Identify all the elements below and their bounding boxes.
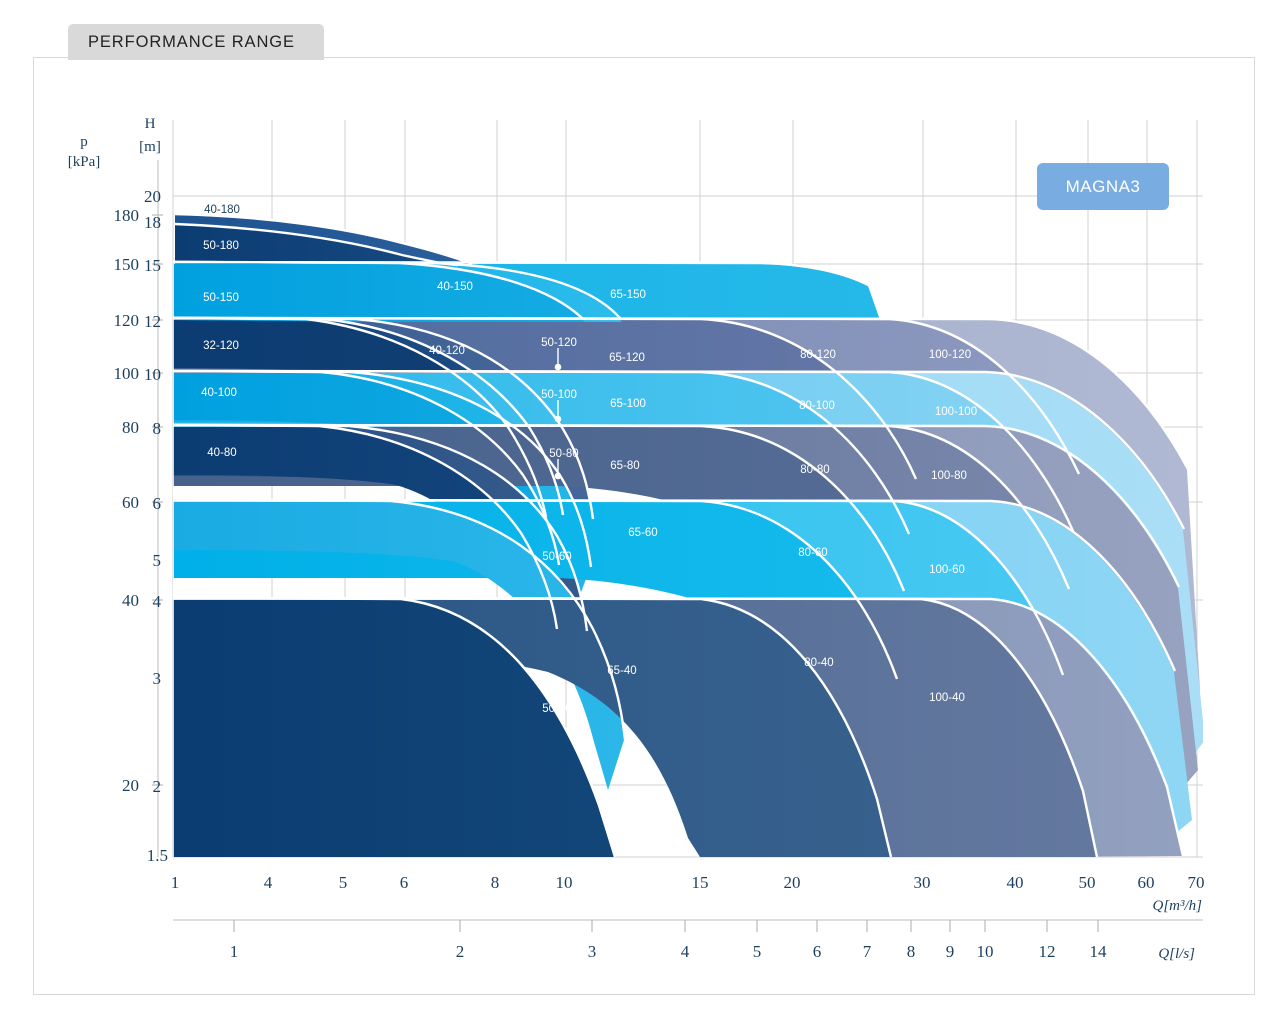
ytick-p-120: 120 [114, 311, 140, 330]
axis-bottom-secondary: 1 2 3 4 5 6 7 8 9 10 12 14 Q[l/s] [230, 942, 1195, 962]
curve-label-65-100: 65-100 [610, 398, 646, 410]
xtick-q-5: 5 [339, 873, 348, 892]
ytick-p-100: 100 [114, 364, 140, 383]
ytick-h-1.5: 1.5 [147, 846, 168, 865]
curve-label-80-80: 80-80 [800, 464, 829, 476]
curve-label-50-120: 50-120 [541, 337, 577, 349]
band-row-40 [173, 600, 1182, 857]
ytick-h-10: 10 [144, 365, 161, 384]
xtick-ls-10: 10 [977, 942, 994, 961]
xtick-ls-8: 8 [907, 942, 916, 961]
ytick-h-2: 2 [153, 777, 162, 796]
xtick-ls-7: 7 [863, 942, 872, 961]
axis-left-primary: p [kPa] 180 150 120 100 80 60 40 20 [68, 134, 139, 795]
curve-label-40-100: 40-100 [201, 387, 237, 399]
ytick-p-60: 60 [122, 493, 139, 512]
curve-label-50-150: 50-150 [203, 292, 239, 304]
axis-left-secondary: H [m] 20 18 15 12 10 8 6 5 4 3 2 1.5 [139, 116, 168, 865]
ytick-h-3: 3 [153, 669, 162, 688]
curve-label-80-100: 80-100 [799, 400, 835, 412]
ytick-h-5: 5 [153, 551, 162, 570]
curve-label-80-120: 80-120 [800, 349, 836, 361]
xtick-q-60: 60 [1138, 873, 1155, 892]
axis-q-ls-unit: Q[l/s] [1158, 946, 1195, 962]
axis-h-unit: [m] [139, 139, 161, 155]
xtick-q-1: 1 [171, 873, 180, 892]
curve-label-40-80: 40-80 [207, 447, 236, 459]
performance-bands [173, 215, 1205, 857]
ytick-p-80: 80 [122, 418, 139, 437]
curve-label-100-60: 100-60 [929, 564, 965, 576]
page-title-tab: PERFORMANCE RANGE [68, 24, 324, 60]
curve-label-50-80: 50-80 [549, 448, 578, 460]
curve-label-65-40: 65-40 [607, 665, 636, 677]
xtick-ls-6: 6 [813, 942, 822, 961]
xtick-q-40: 40 [1007, 873, 1024, 892]
ytick-h-18: 18 [144, 213, 161, 232]
curve-label-50-100: 50-100 [541, 389, 577, 401]
ytick-p-20: 20 [122, 776, 139, 795]
curve-label-65-60: 65-60 [628, 527, 657, 539]
xtick-q-8: 8 [491, 873, 500, 892]
curve-label-100-100: 100-100 [935, 406, 977, 418]
magna3-badge: MAGNA3 [1037, 163, 1169, 210]
curve-label-50-180: 50-180 [203, 240, 239, 252]
xtick-ls-12: 12 [1039, 942, 1056, 961]
ytick-h-6: 6 [153, 494, 162, 513]
ytick-h-12: 12 [144, 312, 161, 331]
curve-label-32-120: 32-120 [203, 340, 239, 352]
axis-h-name: H [145, 116, 156, 132]
curve-label-40-180: 40-180 [204, 204, 240, 216]
performance-range-chart-page: PERFORMANCE RANGE [0, 0, 1280, 1024]
xtick-ls-1: 1 [230, 942, 239, 961]
curve-label-100-40: 100-40 [929, 692, 965, 704]
curve-label-100-80: 100-80 [931, 470, 967, 482]
page-title: PERFORMANCE RANGE [88, 33, 295, 52]
ytick-h-4: 4 [153, 592, 162, 611]
xtick-ls-3: 3 [588, 942, 597, 961]
axis-q-m3h-unit: Q[m³/h] [1152, 898, 1202, 914]
curve-label-80-40: 80-40 [804, 657, 833, 669]
curve-label-80-60: 80-60 [798, 547, 827, 559]
ytick-p-180: 180 [114, 206, 140, 225]
curve-label-40-150: 40-150 [437, 281, 473, 293]
xtick-q-30: 30 [914, 873, 931, 892]
xtick-ls-9: 9 [946, 942, 955, 961]
ytick-h-20: 20 [144, 187, 161, 206]
magna3-badge-label: MAGNA3 [1066, 177, 1141, 197]
xtick-q-20: 20 [784, 873, 801, 892]
xtick-ls-5: 5 [753, 942, 762, 961]
axis-p-unit: [kPa] [68, 154, 101, 170]
xtick-ls-2: 2 [456, 942, 465, 961]
xtick-q-50: 50 [1079, 873, 1096, 892]
curve-label-40-120: 40-120 [429, 345, 465, 357]
ytick-p-150: 150 [114, 255, 140, 274]
curve-label-100-120: 100-120 [929, 349, 971, 361]
xtick-q-15: 15 [692, 873, 709, 892]
curve-label-50-60: 50-60 [542, 551, 571, 563]
performance-plot: 40-18050-18050-15040-15065-15032-12040-1… [0, 0, 1280, 1024]
curve-label-65-80: 65-80 [610, 460, 639, 472]
ytick-p-40: 40 [122, 591, 139, 610]
xtick-q-6: 6 [400, 873, 409, 892]
ytick-h-15: 15 [144, 256, 161, 275]
curve-label-65-120: 65-120 [609, 352, 645, 364]
xtick-q-10: 10 [556, 873, 573, 892]
xtick-q-70: 70 [1188, 873, 1205, 892]
curve-label-50-40: 50-40 [542, 703, 571, 715]
ytick-h-8: 8 [153, 419, 162, 438]
xtick-q-4: 4 [264, 873, 273, 892]
curve-label-65-150: 65-150 [610, 289, 646, 301]
xtick-ls-14: 14 [1090, 942, 1108, 961]
xtick-ls-4: 4 [681, 942, 690, 961]
axis-p-name: p [80, 134, 88, 150]
axis-bottom-primary: 1 4 5 6 8 10 15 20 30 40 50 60 70 Q[m³/h… [171, 873, 1205, 914]
axis-bottom-ticks [234, 920, 1098, 932]
